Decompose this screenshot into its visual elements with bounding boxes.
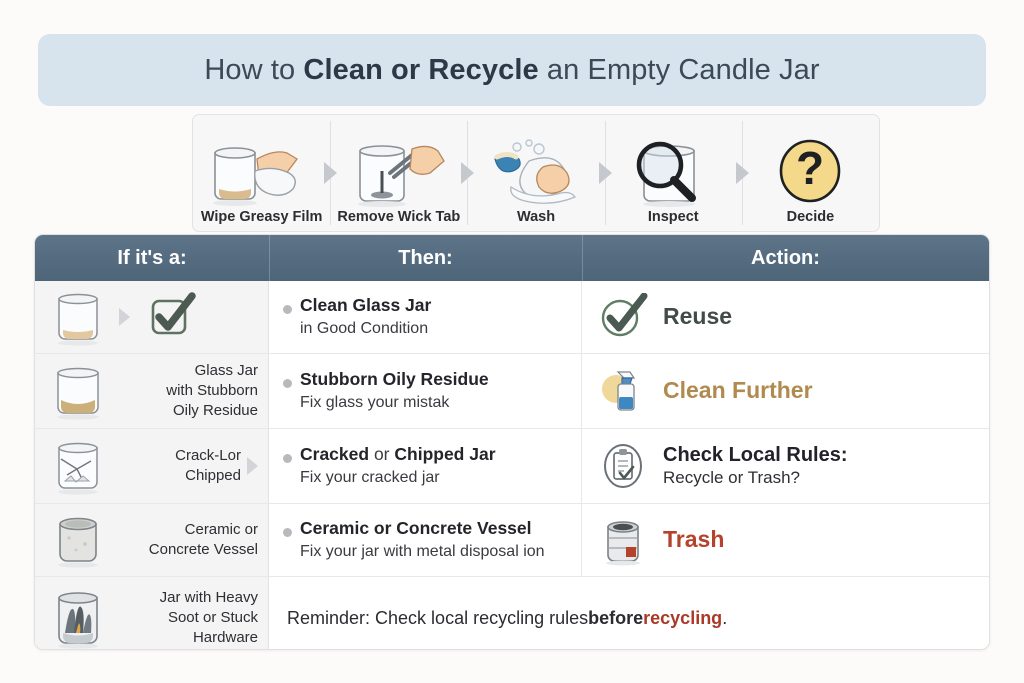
jar-pliers-wick-icon	[330, 135, 467, 209]
title-banner: How to Clean or Recycle an Empty Candle …	[38, 34, 986, 106]
then-sub-text: Fix glass your mistak	[300, 393, 489, 414]
arrow-right-icon	[247, 457, 258, 475]
reminder-tail: .	[722, 608, 727, 629]
action-cell: Reuse	[582, 281, 989, 353]
chevron-right-icon	[324, 162, 337, 184]
clipboard-check-icon	[596, 441, 650, 491]
then-sub-text: Fix your jar with metal disposal ion	[300, 542, 545, 563]
decision-table: If it's a: Then: Action:	[34, 234, 990, 650]
condition-cell: Ceramic orConcrete Vessel	[35, 504, 269, 576]
circle-check-icon	[596, 293, 650, 341]
sooty-jar-icon	[43, 585, 113, 650]
condition-label: Crack-LorChipped	[119, 446, 241, 486]
condition-cell: Crack-LorChipped	[35, 429, 269, 503]
cracked-jar-icon	[43, 435, 113, 497]
reminder-bold: before	[588, 608, 643, 629]
action-main-text: Check Local Rules:	[663, 444, 848, 468]
step-inspect[interactable]: Inspect	[605, 115, 742, 231]
table-row: Jar with HeavySoot or StuckHardware Remi…	[35, 577, 989, 650]
step-decide[interactable]: ? Decide	[742, 115, 879, 231]
condition-label: Ceramic orConcrete Vessel	[119, 520, 258, 560]
spray-bottle-icon	[596, 366, 650, 416]
page-title: How to Clean or Recycle an Empty Candle …	[204, 54, 819, 87]
condition-cell	[35, 281, 269, 353]
bullet-icon	[283, 305, 292, 314]
trash-can-icon	[596, 514, 650, 566]
step-label: Wipe Greasy Film	[201, 209, 323, 225]
column-header-action: Action:	[582, 235, 989, 281]
jar-magnifier-icon	[605, 135, 742, 209]
column-header-then: Then:	[269, 235, 582, 281]
hand-sponge-suds-icon	[467, 135, 604, 209]
table-row: Glass Jarwith StubbornOily Residue Stubb…	[35, 354, 989, 429]
jar-wipe-cloth-icon	[193, 135, 330, 209]
reminder-note: Reminder: Check local recycling rules be…	[269, 577, 989, 650]
question-mark-circle-icon: ?	[742, 135, 879, 209]
then-main-text: Stubborn Oily Residue	[300, 369, 489, 391]
bullet-icon	[283, 454, 292, 463]
action-cell: Check Local Rules: Recycle or Trash?	[582, 429, 989, 503]
reminder-lead: Reminder: Check local recycling rules	[287, 608, 588, 629]
then-main-text: Cracked or Chipped Jar	[300, 444, 496, 466]
ceramic-vessel-icon	[43, 510, 113, 570]
clean-jar-icon	[43, 287, 113, 347]
svg-text:?: ?	[796, 142, 824, 194]
chevron-right-icon	[461, 162, 474, 184]
table-row: Clean Glass Jar in Good Condition Reuse	[35, 281, 989, 354]
then-cell: Ceramic or Concrete Vessel Fix your jar …	[269, 504, 582, 576]
action-main-text: Reuse	[663, 303, 732, 330]
table-header-row: If it's a: Then: Action:	[35, 235, 989, 281]
steps-strip: Wipe Greasy Film Remove Wick Tab	[192, 114, 880, 232]
step-wipe-greasy-film[interactable]: Wipe Greasy Film	[193, 115, 330, 231]
then-cell: Clean Glass Jar in Good Condition	[269, 281, 582, 353]
then-cell: Stubborn Oily Residue Fix glass your mis…	[269, 354, 582, 428]
title-part1: How to	[204, 54, 303, 86]
step-label: Inspect	[648, 209, 699, 225]
condition-label: Jar with HeavySoot or StuckHardware	[119, 588, 258, 648]
chevron-right-icon	[599, 162, 612, 184]
condition-cell: Glass Jarwith StubbornOily Residue	[35, 354, 269, 428]
arrow-right-icon	[119, 308, 130, 326]
action-cell: Clean Further	[582, 354, 989, 428]
title-bold: Clean or Recycle	[303, 54, 538, 86]
bullet-icon	[283, 528, 292, 537]
action-main-text: Trash	[663, 526, 724, 553]
chevron-right-icon	[736, 162, 749, 184]
step-wash[interactable]: Wash	[467, 115, 604, 231]
then-main-bold1: Cracked	[300, 444, 369, 464]
condition-cell: Jar with HeavySoot or StuckHardware	[35, 577, 269, 650]
then-main-text: Ceramic or Concrete Vessel	[300, 518, 545, 540]
step-label: Remove Wick Tab	[337, 209, 460, 225]
then-sub-text: Fix your cracked jar	[300, 468, 496, 489]
action-main-text: Clean Further	[663, 377, 813, 404]
action-sub-text: Recycle or Trash?	[663, 467, 848, 488]
bullet-icon	[283, 379, 292, 388]
then-sub-text: in Good Condition	[300, 319, 431, 340]
infographic-page: How to Clean or Recycle an Empty Candle …	[0, 0, 1024, 683]
step-label: Wash	[517, 209, 555, 225]
then-main-bold2: Chipped Jar	[394, 444, 495, 464]
then-main-text: Clean Glass Jar	[300, 295, 431, 317]
reminder-accent: recycling	[643, 608, 722, 629]
table-row: Ceramic orConcrete Vessel Ceramic or Con…	[35, 504, 989, 577]
condition-label: Glass Jarwith StubbornOily Residue	[119, 361, 258, 421]
column-header-condition: If it's a:	[35, 235, 269, 281]
jar-oily-residue-icon	[43, 360, 113, 422]
action-cell: Trash	[582, 504, 989, 576]
step-remove-wick-tab[interactable]: Remove Wick Tab	[330, 115, 467, 231]
then-main-light: or	[369, 444, 394, 464]
title-part2: an Empty Candle Jar	[539, 54, 820, 86]
then-cell: Cracked or Chipped Jar Fix your cracked …	[269, 429, 582, 503]
step-label: Decide	[787, 209, 835, 225]
table-row: Crack-LorChipped Cracked or Chipped Jar …	[35, 429, 989, 504]
checkbox-tick-icon	[136, 291, 206, 343]
